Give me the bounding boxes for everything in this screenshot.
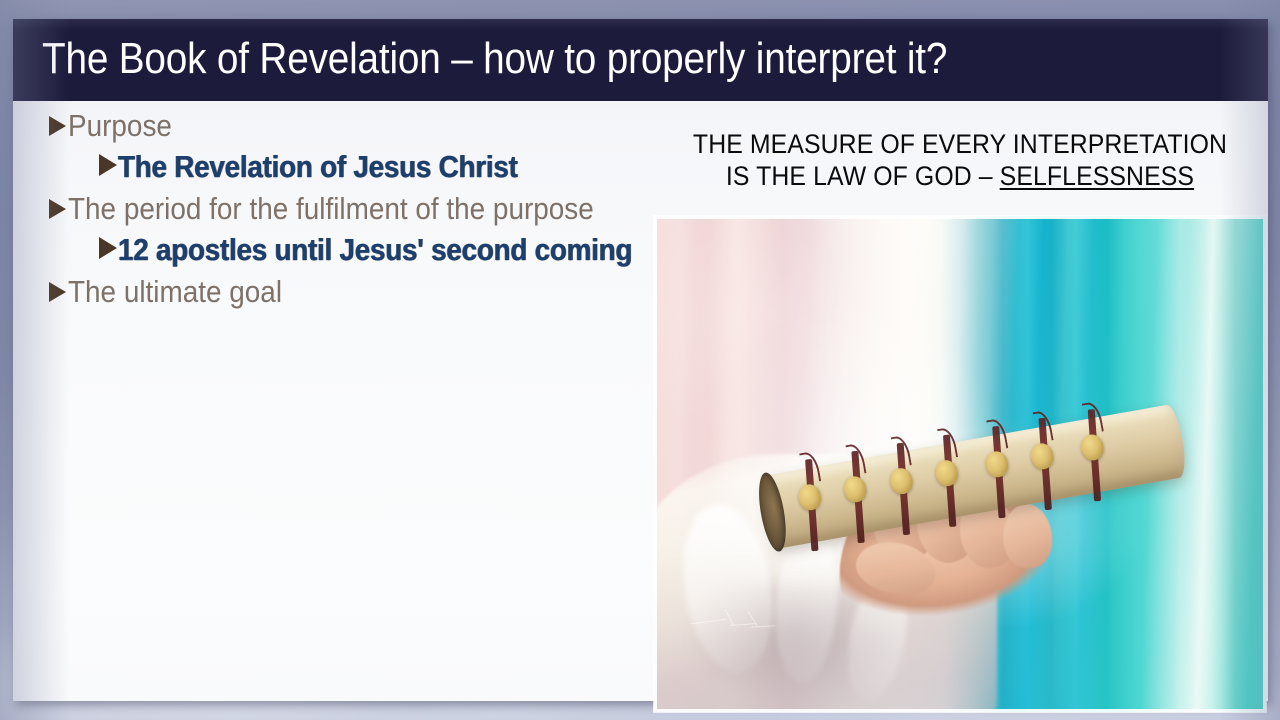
caption-line-2: IS THE LAW OF GOD – SELFLESSNESS: [678, 161, 1241, 193]
bullet-label: Purpose: [68, 105, 172, 146]
caption-emphasis-selflessness: SELFLESSNESS: [1000, 161, 1194, 191]
triangle-right-icon: [49, 282, 66, 302]
slide-title-bar: The Book of Revelation – how to properly…: [13, 19, 1268, 101]
triangle-right-icon: [49, 199, 66, 219]
triangle-right-icon: [49, 116, 66, 136]
bullet-item-12-apostles: 12 apostles until Jesus' second coming: [99, 229, 643, 271]
bullet-item-purpose: Purpose: [49, 105, 643, 146]
bullet-label: The ultimate goal: [68, 271, 282, 312]
presentation-backdrop: The Book of Revelation – how to properly…: [0, 0, 1280, 720]
slide-title: The Book of Revelation – how to properly…: [42, 34, 947, 84]
bullet-label: The period for the fulfilment of the pur…: [68, 188, 594, 229]
artist-signature: [691, 613, 777, 633]
scroll-illustration: [654, 216, 1266, 712]
triangle-right-icon: [99, 154, 117, 176]
bullet-label: The Revelation of Jesus Christ: [118, 146, 518, 188]
caption-line-1: THE MEASURE OF EVERY INTERPRETATION: [678, 129, 1241, 161]
slide: The Book of Revelation – how to properly…: [13, 19, 1268, 701]
caption-line-2-prefix: IS THE LAW OF GOD –: [726, 161, 1000, 191]
bullet-item-period-for-fulfilment: The period for the fulfilment of the pur…: [49, 188, 643, 229]
bullet-list: Purpose The Revelation of Jesus Christ T…: [37, 105, 643, 312]
triangle-right-icon: [99, 237, 117, 259]
bullet-label: 12 apostles until Jesus' second coming: [118, 229, 632, 271]
bullet-item-ultimate-goal: The ultimate goal: [49, 271, 643, 312]
picture-caption: THE MEASURE OF EVERY INTERPRETATION IS T…: [654, 129, 1266, 193]
bullet-item-revelation-of-jesus-christ: The Revelation of Jesus Christ: [99, 146, 643, 188]
